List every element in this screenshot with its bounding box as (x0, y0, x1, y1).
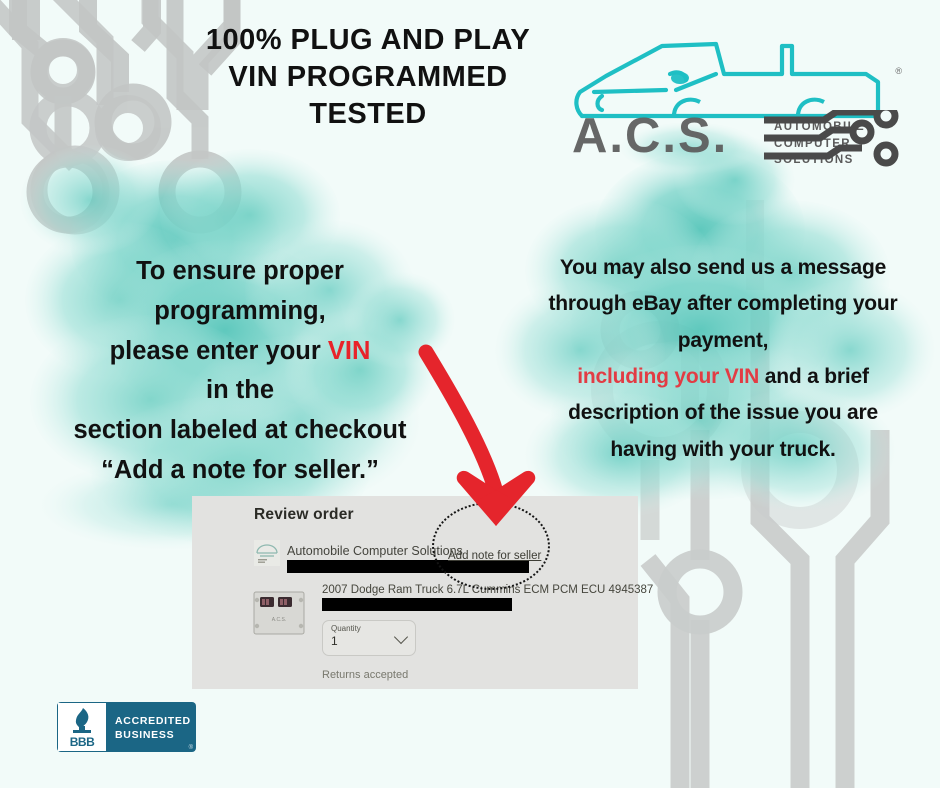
left-line-6: “Add a note for seller.” (20, 451, 460, 491)
chevron-down-icon (394, 630, 408, 644)
vin-highlight-2: including your VIN (577, 365, 759, 388)
bbb-torch-icon (69, 707, 96, 735)
svg-text:A.C.S.: A.C.S. (272, 617, 286, 623)
right-line-3: payment, (520, 323, 926, 359)
right-instruction-text: You may also send us a message through e… (520, 250, 926, 468)
review-order-heading: Review order (254, 506, 354, 524)
bbb-line-2: BUSINESS (115, 728, 191, 742)
right-line-6: having with your truck. (520, 432, 926, 468)
left-instruction-text: To ensure proper programming, please ent… (20, 252, 460, 491)
quantity-select[interactable]: Quantity 1 (322, 620, 416, 656)
circuit-node-icon (762, 110, 908, 168)
left-line-3-prefix: please enter your (110, 337, 328, 365)
acs-logo: A.C.S. AUTOMOBILE COMPUTER SOLUTIONS ® (566, 30, 906, 165)
right-line-4: including your VIN and a brief (520, 359, 926, 395)
headline-line-3: TESTED (118, 96, 618, 133)
redacted-price-bar (322, 598, 512, 611)
headline-line-1: 100% PLUG AND PLAY (118, 22, 618, 59)
page-title: 100% PLUG AND PLAY VIN PROGRAMMED TESTED (118, 22, 618, 133)
left-line-1: To ensure proper (20, 252, 460, 292)
quantity-label: Quantity (331, 624, 361, 633)
returns-accepted-text: Returns accepted (322, 669, 408, 681)
left-line-4: in the (20, 371, 460, 411)
left-line-2: programming, (20, 292, 460, 332)
registered-mark: ® (895, 66, 902, 76)
bbb-letters: BBB (63, 735, 101, 749)
bbb-accredited-business-badge: ACCREDITED BUSINESS BBB ® (57, 702, 196, 752)
bbb-line-1: ACCREDITED (115, 714, 191, 728)
headline-line-2: VIN PROGRAMMED (118, 59, 618, 96)
right-line-4-suffix: and a brief (759, 365, 869, 388)
bbb-accredited-text: ACCREDITED BUSINESS (115, 714, 191, 742)
right-line-1: You may also send us a message (520, 250, 926, 286)
quantity-value: 1 (331, 634, 338, 648)
left-line-5: section labeled at checkout (20, 411, 460, 451)
poster-canvas: 100% PLUG AND PLAY VIN PROGRAMMED TESTED… (0, 0, 940, 788)
seller-logo-thumbnail (254, 540, 280, 566)
right-line-2: through eBay after completing your (520, 286, 926, 322)
red-arrow-annotation (400, 340, 580, 550)
logo-acs-text: A.C.S. (572, 112, 728, 161)
bbb-registered-mark: ® (189, 745, 193, 751)
left-line-3: please enter your VIN (20, 332, 460, 372)
right-line-5: description of the issue you are (520, 395, 926, 431)
item-thumbnail-ecm: A.C.S. (248, 588, 310, 638)
vin-highlight: VIN (328, 337, 371, 365)
